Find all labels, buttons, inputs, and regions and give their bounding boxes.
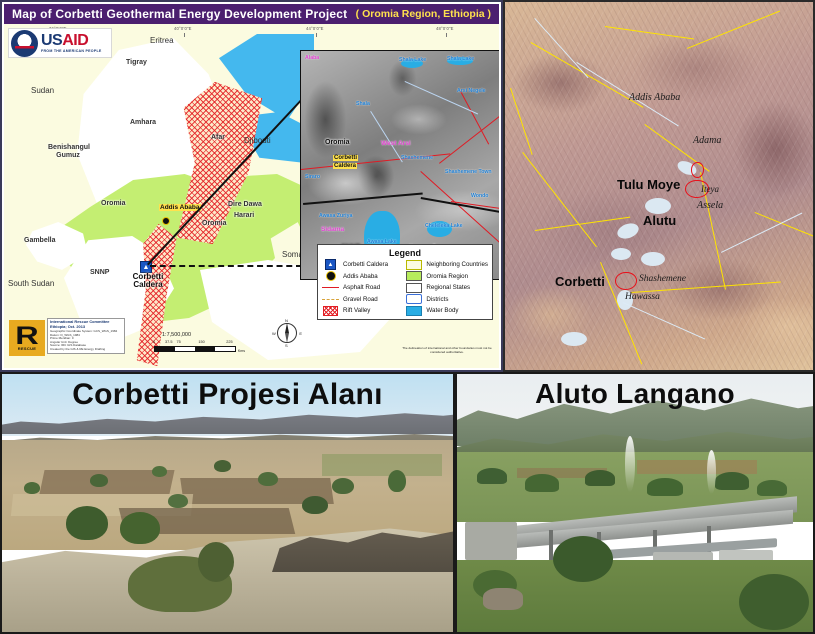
irc-logo: R RESCUE bbox=[9, 320, 45, 356]
photo-left-tree-3 bbox=[152, 466, 167, 477]
legend-item-rift-valley: Rift Valley bbox=[322, 306, 401, 315]
inset-label-shashemene: Shashemene bbox=[401, 155, 433, 161]
photo-left-tree-1 bbox=[24, 482, 40, 494]
boundary-disclaimer: The delineation of international and oth… bbox=[401, 346, 493, 354]
relief-label-alutu: Alutu bbox=[643, 213, 676, 228]
asphalt-road-icon bbox=[322, 283, 339, 292]
relief-lake-shala bbox=[641, 252, 665, 266]
map-scale-bar: 0 37.5 75 150 225 Kms bbox=[154, 340, 236, 352]
usaid-tagline: FROM THE AMERICAN PEOPLE bbox=[41, 50, 102, 54]
region-label-afar: Afar bbox=[211, 134, 225, 141]
legend-item-gravel-road: Gravel Road bbox=[322, 295, 401, 304]
photo-right-tree-4 bbox=[647, 478, 683, 496]
legend-label-addis-ababa: Addis Ababa bbox=[343, 273, 378, 280]
regional-relief-map: Addis Ababa Adama Tulu Moye Iteya Assela… bbox=[503, 0, 815, 372]
addis-ababa-marker-icon bbox=[162, 217, 170, 225]
graticule-label-4: 48°0'0"E bbox=[436, 26, 454, 31]
photo-left-caption: Corbetti Projesi Alanı bbox=[2, 378, 453, 412]
scale-tick-3: 150 bbox=[198, 340, 204, 344]
region-label-gambella: Gambella bbox=[24, 237, 56, 244]
photo-aluto-langano: Aluto Langano bbox=[455, 372, 815, 634]
relief-label-shashemene: Shashemene bbox=[639, 274, 686, 284]
photo-right-control-building bbox=[465, 522, 517, 560]
inset-label-corbetti-caldera-1: Corbetti bbox=[333, 155, 358, 161]
compass-south-label: S bbox=[285, 343, 288, 348]
inset-label-west-arsi: West Arsi bbox=[381, 140, 411, 147]
inset-label-arsi-negele: Arsi Negele bbox=[457, 88, 486, 94]
legend-column-left: ▲ Corbetti Caldera Addis Ababa Asphalt R… bbox=[322, 260, 401, 315]
compass-east-label: E bbox=[299, 331, 302, 336]
photo-left-tree-8 bbox=[168, 494, 188, 508]
region-label-snnp: SNNP bbox=[90, 269, 109, 276]
legend-item-water-body: Water Body bbox=[405, 306, 488, 315]
legend-title: Legend bbox=[322, 248, 488, 258]
inset-label-alaba: Alaba bbox=[305, 55, 319, 61]
photo-left-tree-big-2 bbox=[120, 512, 160, 544]
inset-label-cheleleka-lake: Cheleleka Lake bbox=[425, 223, 463, 229]
photo-right-foreground-rock bbox=[483, 588, 523, 610]
photo-right-tree-6 bbox=[757, 480, 787, 496]
legend-item-corbetti-caldera: ▲ Corbetti Caldera bbox=[322, 260, 401, 269]
legend-item-neighboring-countries: Neighboring Countries bbox=[405, 260, 488, 269]
photo-right-steam-plume-2 bbox=[707, 450, 716, 494]
graticule-label-3: 44°0'0"E bbox=[306, 26, 324, 31]
relief-label-tulu-moye: Tulu Moye bbox=[617, 177, 680, 192]
neighboring-countries-swatch-icon bbox=[405, 260, 422, 269]
photo-right-tree-1 bbox=[477, 468, 507, 484]
country-label-south-sudan: South Sudan bbox=[8, 279, 54, 288]
districts-swatch-icon bbox=[405, 295, 422, 304]
map-legend: Legend ▲ Corbetti Caldera Addis Ababa bbox=[317, 244, 493, 320]
photo-right-tree-2 bbox=[525, 474, 559, 492]
oromia-region-swatch-icon bbox=[405, 272, 422, 281]
inset-label-corbetti-caldera-2: Caldera bbox=[333, 163, 357, 169]
legend-label-districts: Districts bbox=[426, 296, 448, 303]
inset-connector-dashed bbox=[150, 265, 302, 267]
relief-label-assela: Assela bbox=[697, 200, 723, 211]
region-label-dire-dawa: Dire Dawa bbox=[228, 201, 262, 208]
relief-label-iteya: Iteya bbox=[701, 184, 719, 194]
photo-corbetti-project-area: Corbetti Projesi Alanı bbox=[0, 372, 455, 634]
map-credit-block: International Rescue Committee Ethiopia;… bbox=[47, 318, 125, 354]
credit-line-6: Created by the GIS & RE Energy Drafting bbox=[50, 348, 122, 352]
region-label-tigray: Tigray bbox=[126, 59, 147, 66]
legend-label-asphalt-road: Asphalt Road bbox=[343, 284, 380, 291]
photo-right-tree-5 bbox=[715, 472, 749, 490]
legend-item-addis-ababa: Addis Ababa bbox=[322, 272, 401, 281]
relief-label-corbetti: Corbetti bbox=[555, 274, 605, 289]
legend-label-water-body: Water Body bbox=[426, 307, 458, 314]
north-arrow-icon: N E S W bbox=[274, 320, 300, 346]
photo-left-tree-2 bbox=[90, 474, 108, 487]
photo-right-caption: Aluto Langano bbox=[457, 378, 813, 410]
photo-right-steam-plume-1 bbox=[625, 436, 635, 492]
composite-figure: Map of Corbetti Geothermal Energy Develo… bbox=[0, 0, 815, 634]
legend-item-asphalt-road: Asphalt Road bbox=[322, 283, 401, 292]
addis-ababa-label: Addis Ababa bbox=[159, 204, 201, 211]
map-subtitle: ( Oromia Region, Ethiopia ) bbox=[356, 8, 491, 20]
map-scale-text: 1:7,500,000 bbox=[162, 332, 191, 338]
scale-unit-label: Kms bbox=[238, 349, 245, 353]
relief-lake-south bbox=[561, 332, 587, 346]
compass-west-label: W bbox=[272, 331, 276, 336]
main-map-panel: Map of Corbetti Geothermal Energy Develo… bbox=[0, 0, 503, 372]
photo-right-foreground-tree-right bbox=[739, 574, 809, 630]
inset-label-awasa-zuriya: Awasa Zuriya bbox=[319, 213, 352, 219]
inset-label-shashemene-town: Shashemene Town bbox=[445, 169, 492, 175]
scale-tick-4: 225 bbox=[226, 340, 232, 344]
photo-left-tree-5 bbox=[258, 472, 278, 486]
relief-label-addis-ababa: Addis Ababa bbox=[629, 92, 680, 103]
graticule-label-2: 40°0'0"E bbox=[174, 26, 192, 31]
region-label-harari: Harari bbox=[234, 212, 254, 219]
photo-left-tree-4 bbox=[214, 460, 231, 472]
inset-label-oromia: Oromia bbox=[325, 139, 350, 146]
usaid-word-aid: AID bbox=[62, 32, 88, 49]
map-title-bar: Map of Corbetti Geothermal Energy Develo… bbox=[4, 4, 499, 24]
water-body-swatch-icon bbox=[405, 306, 422, 315]
legend-label-rift-valley: Rift Valley bbox=[343, 307, 370, 314]
photo-right-foreground-tree bbox=[553, 536, 613, 582]
corbetti-caldera-label-line2: Caldera bbox=[130, 281, 166, 289]
country-label-sudan: Sudan bbox=[31, 86, 54, 95]
corbetti-caldera-ring bbox=[615, 272, 637, 290]
scale-bar-graphic bbox=[154, 346, 236, 352]
relief-label-hawassa: Hawassa bbox=[625, 292, 660, 302]
legend-label-corbetti-caldera: Corbetti Caldera bbox=[343, 261, 388, 268]
rift-valley-icon bbox=[322, 306, 339, 315]
photo-left-foreground-bush-2 bbox=[198, 542, 234, 582]
scale-tick-0: 0 bbox=[153, 340, 155, 344]
relief-label-adama: Adama bbox=[693, 135, 721, 146]
region-label-oromia-east: Oromia bbox=[202, 220, 227, 227]
legend-item-regional-states: Regional States bbox=[405, 283, 488, 292]
legend-column-right: Neighboring Countries Oromia Region Regi… bbox=[405, 260, 488, 315]
inset-label-siraro: Siraro bbox=[305, 174, 320, 180]
map-title: Map of Corbetti Geothermal Energy Develo… bbox=[12, 7, 347, 21]
legend-item-oromia-region: Oromia Region bbox=[405, 272, 488, 281]
region-label-benishangul-gumuz: Benishangul Gumuz bbox=[48, 144, 88, 159]
photo-left-field-green bbox=[322, 454, 442, 476]
country-label-eritrea: Eritrea bbox=[150, 36, 174, 45]
photo-left-tree-9 bbox=[388, 470, 406, 492]
inset-label-sidama: Sidama bbox=[321, 226, 344, 233]
caldera-marker-icon: ▲ bbox=[322, 260, 339, 269]
scale-tick-1: 37.5 bbox=[165, 340, 172, 344]
photo-left-tree-7 bbox=[302, 496, 328, 514]
regional-states-swatch-icon bbox=[405, 283, 422, 292]
scale-tick-2: 75 bbox=[176, 340, 180, 344]
usaid-seal-icon bbox=[11, 30, 38, 57]
legend-label-neighboring-countries: Neighboring Countries bbox=[426, 261, 488, 268]
gravel-road-icon bbox=[322, 295, 339, 304]
inset-label-wondo: Wondo bbox=[471, 193, 488, 199]
inset-label-shala-lake-b: Shala Lake bbox=[447, 56, 474, 62]
legend-label-oromia-region: Oromia Region bbox=[426, 273, 468, 280]
legend-item-districts: Districts bbox=[405, 295, 488, 304]
region-label-amhara: Amhara bbox=[130, 119, 156, 126]
irc-mark-icon: R bbox=[15, 326, 38, 346]
legend-label-regional-states: Regional States bbox=[426, 284, 470, 291]
region-label-oromia-west: Oromia bbox=[101, 200, 126, 207]
photo-right-tree-3 bbox=[585, 470, 615, 486]
inset-label-shala-lake-a: Shala Lake bbox=[399, 57, 426, 63]
usaid-word-us: US bbox=[41, 32, 62, 49]
capital-city-icon bbox=[322, 272, 339, 281]
compass-north-label: N bbox=[285, 318, 288, 323]
photo-left-tree-6 bbox=[332, 478, 354, 494]
relief-lake-abijatta bbox=[611, 248, 631, 260]
relief-lake-ziway bbox=[645, 198, 671, 214]
legend-label-gravel-road: Gravel Road bbox=[343, 296, 378, 303]
inset-label-shala: Shala bbox=[356, 101, 370, 107]
tulu-moye-ring-small bbox=[691, 162, 704, 178]
usaid-logo: USAID FROM THE AMERICAN PEOPLE bbox=[8, 28, 112, 58]
photo-left-tree-big-1 bbox=[66, 506, 108, 540]
map-canvas: 36°0'0"E 40°0'0"E 44°0'0"E 48°0'0"E bbox=[4, 24, 499, 368]
